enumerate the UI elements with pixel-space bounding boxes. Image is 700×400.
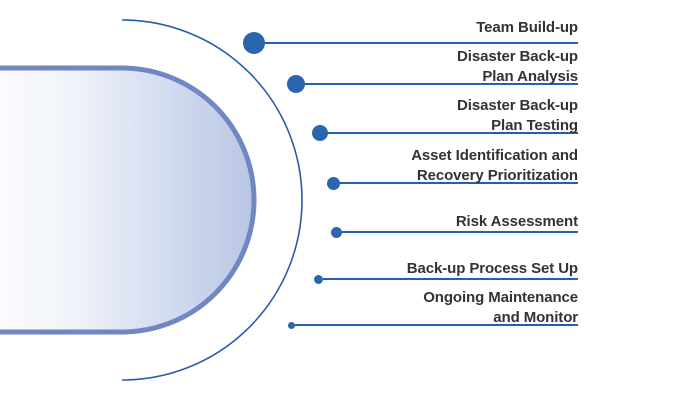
step-dot-marker[interactable]	[288, 322, 295, 329]
step-dot-marker[interactable]	[287, 75, 305, 93]
step-label: Asset Identification and Recovery Priori…	[320, 146, 578, 186]
step-list: Team Build-upDisaster Back-up Plan Analy…	[0, 0, 700, 400]
step-label: Disaster Back-up Plan Analysis	[320, 47, 578, 87]
diagram-canvas: Team Build-upDisaster Back-up Plan Analy…	[0, 0, 700, 400]
step-label: Risk Assessment	[320, 212, 578, 232]
step-label: Disaster Back-up Plan Testing	[320, 96, 578, 136]
step-label: Team Build-up	[320, 18, 578, 38]
step-label: Ongoing Maintenance and Monitor	[320, 288, 578, 328]
step-label: Back-up Process Set Up	[320, 259, 578, 279]
step-connector-line	[265, 42, 578, 44]
step-dot-marker[interactable]	[243, 32, 265, 54]
